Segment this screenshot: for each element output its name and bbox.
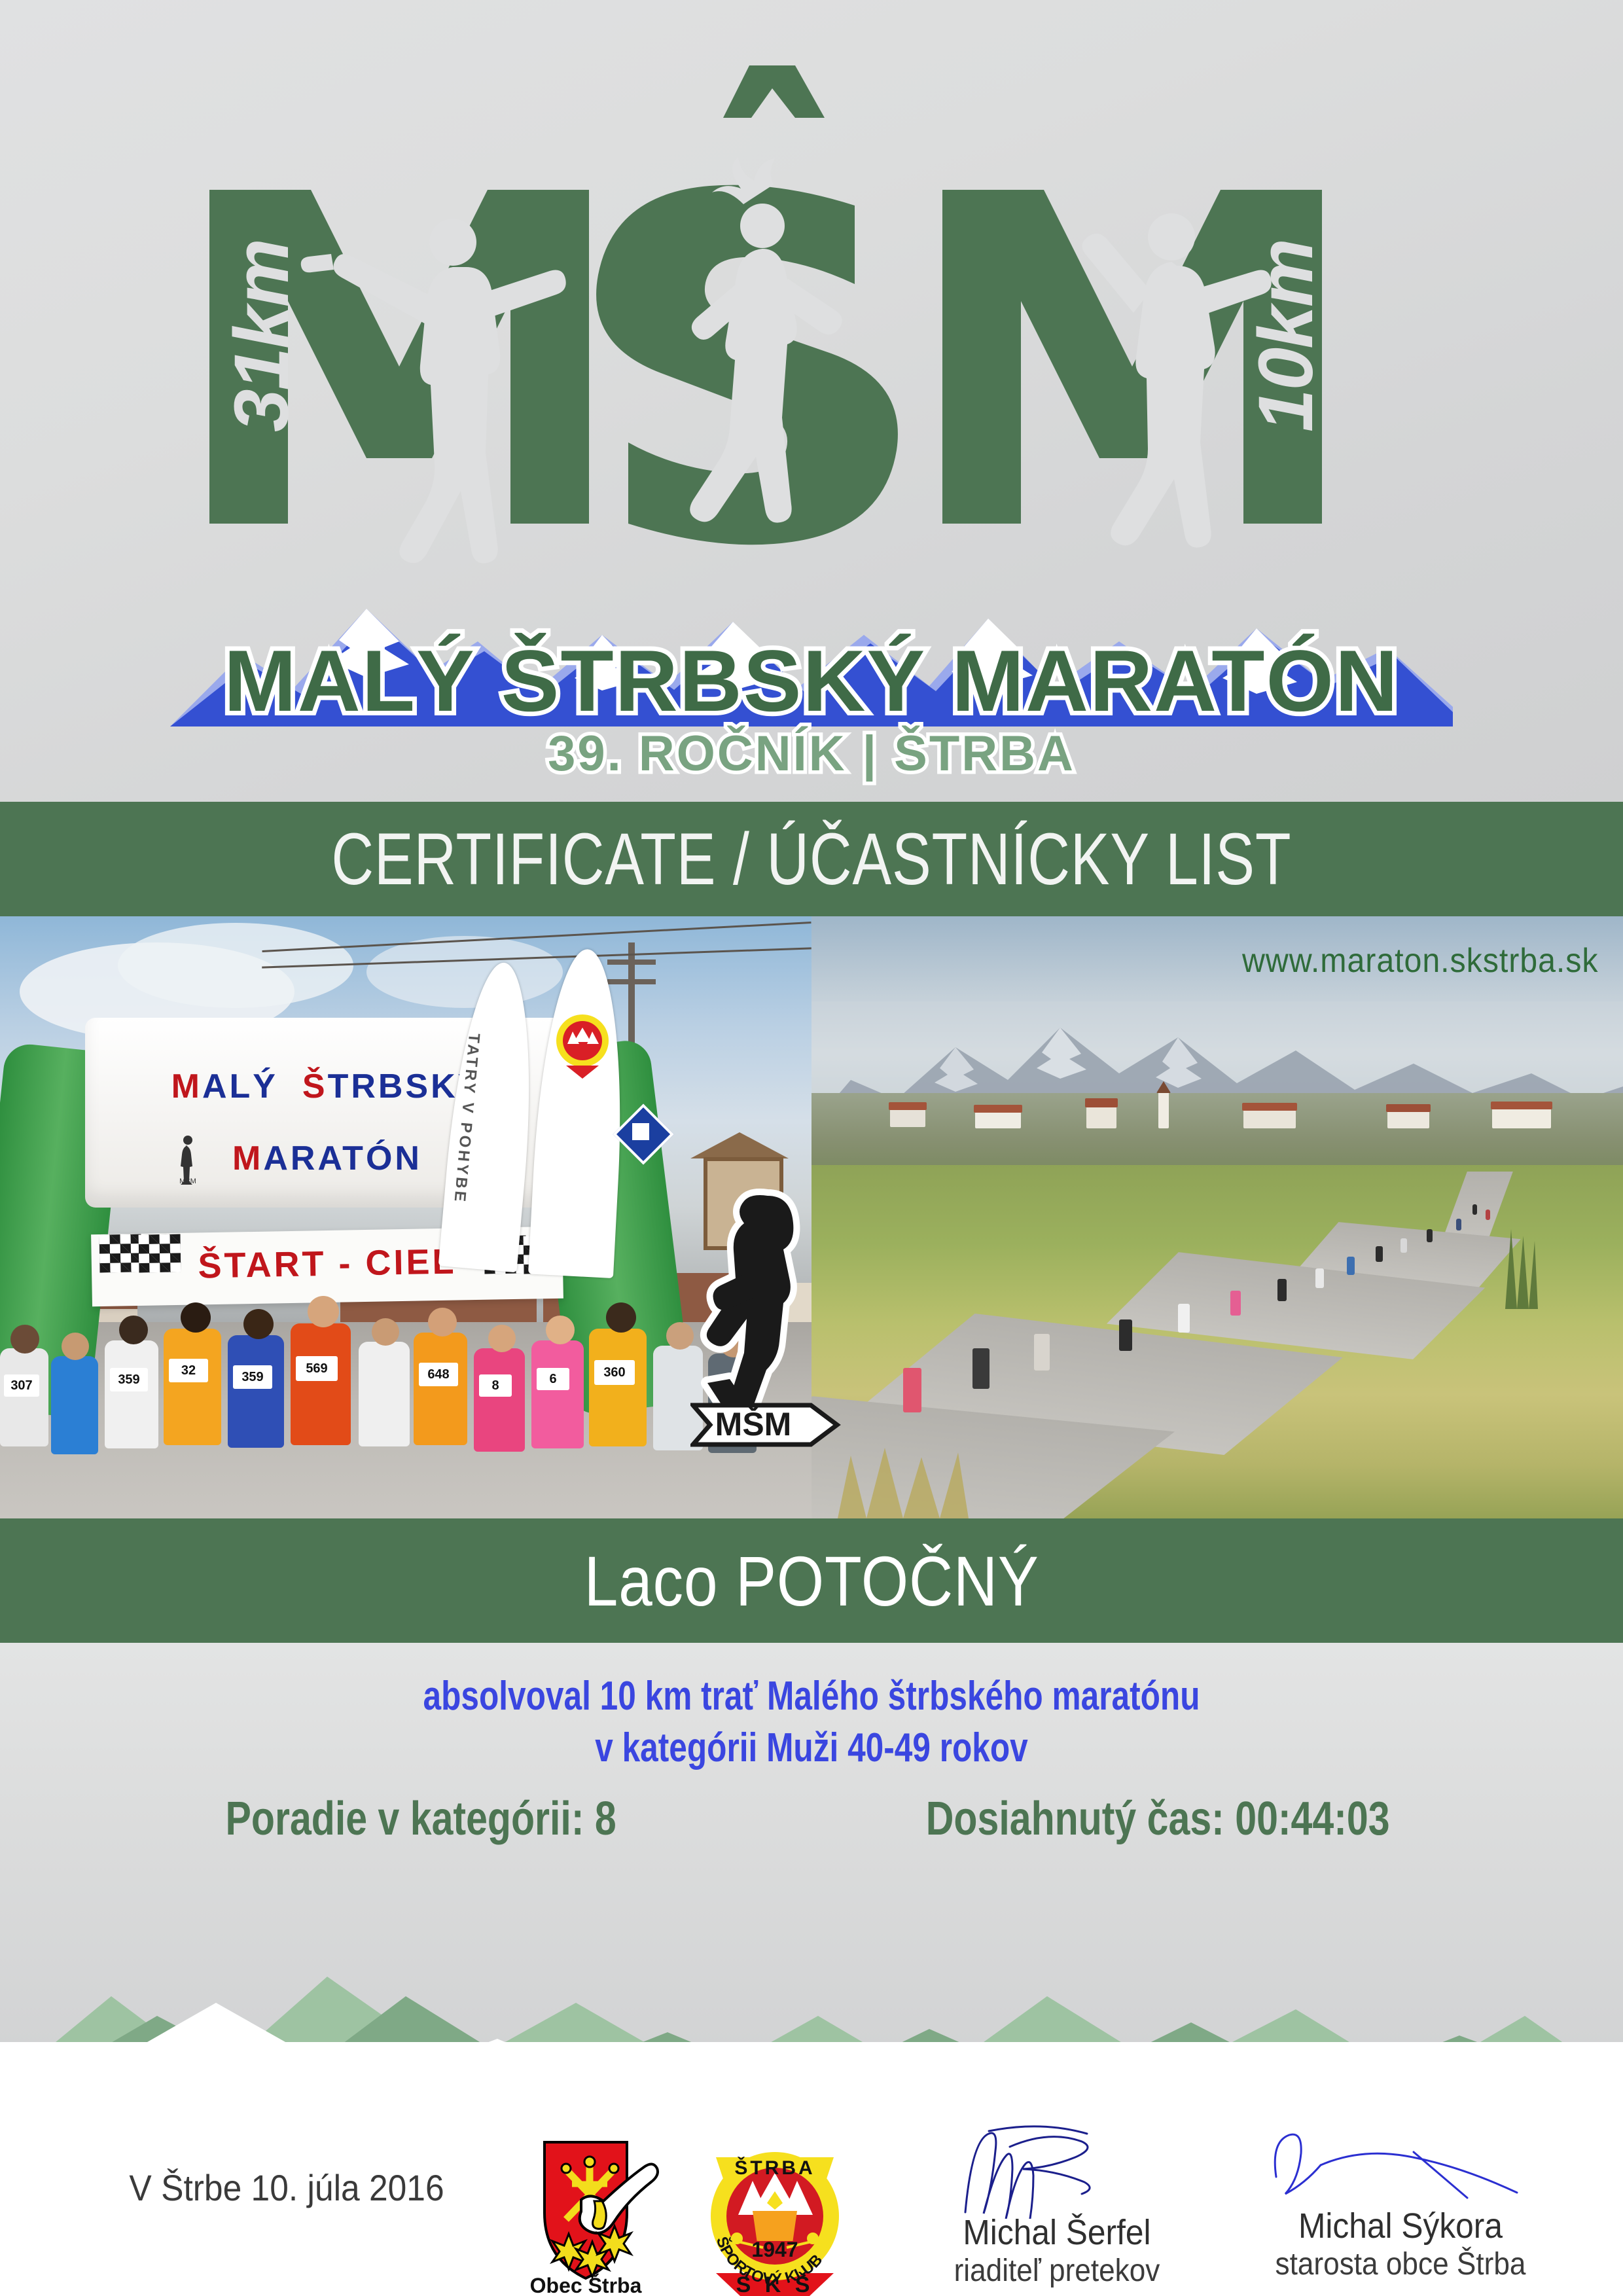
certificate-title: CERTIFICATE / ÚČASTNÍCKY LIST xyxy=(332,817,1292,901)
logo-band: 31km xyxy=(0,0,1623,802)
signature-name: Michal Sýkora xyxy=(1214,2206,1587,2246)
sks-flag-emblem-icon xyxy=(553,1008,612,1080)
certificate-page: 31km xyxy=(0,0,1623,2296)
arch-msm-mark: MŠM xyxy=(177,1132,199,1185)
bib: 569 xyxy=(296,1356,338,1381)
village-roof xyxy=(974,1105,1022,1113)
results-row: Poradie v kategórii: 8 Dosiahnutý čas: 0… xyxy=(0,1792,1623,1846)
wordmark-subtitle: 39. ROČNÍK | ŠTRBA xyxy=(170,725,1453,782)
checker-left xyxy=(99,1234,141,1272)
obec-strba-emblem: Obec Štrba xyxy=(504,2136,668,2296)
village-roof xyxy=(1242,1103,1297,1111)
distant-runner xyxy=(1456,1219,1461,1230)
runner-close xyxy=(1119,1319,1132,1351)
village-roof xyxy=(1085,1098,1118,1107)
runner xyxy=(291,1323,351,1445)
runner-head xyxy=(181,1302,211,1333)
svg-text:MŠM: MŠM xyxy=(179,1177,196,1185)
runner xyxy=(228,1335,284,1448)
svg-text:10km: 10km xyxy=(1243,240,1329,432)
spectator xyxy=(903,1368,921,1412)
runner-head xyxy=(243,1309,274,1339)
website-url: www.maraton.skstrba.sk xyxy=(1241,941,1598,980)
runner xyxy=(414,1333,467,1445)
village-building xyxy=(1243,1109,1296,1128)
footer: V Štrbe 10. júla 2016 xyxy=(0,2042,1623,2296)
handwritten-signature-icon xyxy=(1198,2114,1603,2212)
distant-runner xyxy=(1315,1268,1324,1288)
achievement-line2: v kategórii Muži 40-49 rokov xyxy=(162,1722,1461,1774)
spectator xyxy=(972,1348,990,1389)
bib: 359 xyxy=(233,1365,272,1389)
sks-top-text: ŠTRBA xyxy=(734,2157,815,2179)
runner-head xyxy=(62,1333,89,1360)
photo-strip: MALÝ ŠTRBSKÝ MARATÓN MŠM MŠM ŠTART - CIE… xyxy=(0,916,1623,1518)
distant-runner xyxy=(1472,1204,1477,1215)
runner xyxy=(0,1348,48,1446)
runner-head xyxy=(428,1308,457,1336)
village-roof xyxy=(1386,1104,1431,1112)
wordmark-title: MALÝ ŠTRBSKÝ MARATÓN xyxy=(170,632,1453,731)
distant-runner xyxy=(1400,1238,1407,1253)
village-building xyxy=(975,1110,1021,1128)
bib: 32 xyxy=(169,1359,208,1382)
participant-name-bar: Laco POTOČNÝ xyxy=(0,1518,1623,1643)
logo-wrap: 31km xyxy=(170,26,1453,798)
signature-role: riaditeľ pretekov xyxy=(870,2253,1243,2289)
village-building xyxy=(1492,1107,1551,1128)
crosswalk-sign-inner xyxy=(632,1123,649,1140)
runner-close xyxy=(1034,1334,1050,1371)
signature-name: Michal Šerfel xyxy=(870,2212,1243,2253)
arch-line1-rest: ALÝ xyxy=(202,1067,302,1105)
power-pole-arm xyxy=(607,960,656,965)
cloud xyxy=(366,936,563,1008)
distant-runner xyxy=(1427,1229,1433,1242)
photo-course-landscape: www.maraton.skstrba.sk xyxy=(811,916,1623,1518)
msm-logo-icon: 31km xyxy=(170,26,1453,615)
bib: 359 xyxy=(110,1368,148,1391)
village-roof xyxy=(1491,1102,1552,1109)
church-tower xyxy=(1158,1092,1169,1128)
sks-bottom-text: Š K Š xyxy=(736,2272,814,2296)
runner-head xyxy=(119,1316,148,1344)
msm-runner-badge-icon: MŠM xyxy=(690,1175,847,1450)
photo-start-line: MALÝ ŠTRBSKÝ MARATÓN MŠM MŠM ŠTART - CIE… xyxy=(0,916,811,1518)
runner xyxy=(105,1340,158,1448)
runner-head xyxy=(606,1302,636,1333)
runner-head xyxy=(10,1325,39,1354)
runner xyxy=(359,1342,410,1446)
coat-of-arms-icon: Obec Štrba xyxy=(504,2136,668,2296)
certificate-title-bar: CERTIFICATE / ÚČASTNÍCKY LIST xyxy=(0,802,1623,916)
bib: 6 xyxy=(537,1368,569,1390)
village-building xyxy=(1387,1110,1429,1128)
wordmark-text: MALÝ ŠTRBSKÝ MARATÓN xyxy=(224,633,1399,730)
obec-caption: Obec Štrba xyxy=(530,2274,642,2296)
sks-strba-emblem: ŠTRBA 1947 ŠPORTOVÝ KLUB Š K Š xyxy=(695,2126,855,2296)
distant-runner xyxy=(1376,1246,1383,1262)
distant-runner xyxy=(1230,1291,1241,1316)
runner xyxy=(589,1329,647,1446)
participant-name: Laco POTOČNÝ xyxy=(584,1540,1039,1622)
runner-head xyxy=(308,1296,339,1327)
runner-close xyxy=(1178,1304,1190,1333)
time-value: Dosiahnutý čas: 00:44:03 xyxy=(926,1792,1390,1846)
runner-head xyxy=(488,1325,516,1352)
runner xyxy=(51,1356,98,1454)
bib: 360 xyxy=(594,1360,635,1385)
svg-text:MŠM: MŠM xyxy=(715,1405,792,1443)
runner-head xyxy=(546,1316,575,1344)
svg-text:31km: 31km xyxy=(219,240,305,432)
runner xyxy=(474,1348,525,1452)
village-building xyxy=(1086,1106,1116,1128)
village-building xyxy=(890,1107,925,1127)
achievement-line1: absolvoval 10 km trať Malého štrbského m… xyxy=(162,1670,1461,1722)
sks-year: 1947 xyxy=(751,2238,798,2261)
distant-runner xyxy=(1277,1279,1287,1301)
rank-value: Poradie v kategórii: 8 xyxy=(225,1792,616,1846)
bib: 307 xyxy=(4,1374,39,1397)
wordmark-subtitle-text: 39. ROČNÍK | ŠTRBA xyxy=(548,726,1075,781)
runner xyxy=(531,1340,584,1448)
runner xyxy=(164,1329,221,1445)
bib: 8 xyxy=(479,1374,512,1397)
sports-club-icon: ŠTRBA 1947 ŠPORTOVÝ KLUB Š K Š xyxy=(695,2126,855,2296)
issue-date: V Štrbe 10. júla 2016 xyxy=(94,2166,480,2209)
distant-runner xyxy=(1347,1257,1355,1275)
runner-head xyxy=(666,1322,694,1350)
signature-role: starosta obce Štrba xyxy=(1214,2246,1587,2282)
distant-runner xyxy=(1486,1210,1490,1220)
bib: 648 xyxy=(419,1363,458,1386)
runner-head xyxy=(372,1318,399,1346)
village-roof xyxy=(889,1102,927,1110)
achievement-text: absolvoval 10 km trať Malého štrbského m… xyxy=(162,1670,1461,1774)
power-pole-arm xyxy=(607,979,656,984)
